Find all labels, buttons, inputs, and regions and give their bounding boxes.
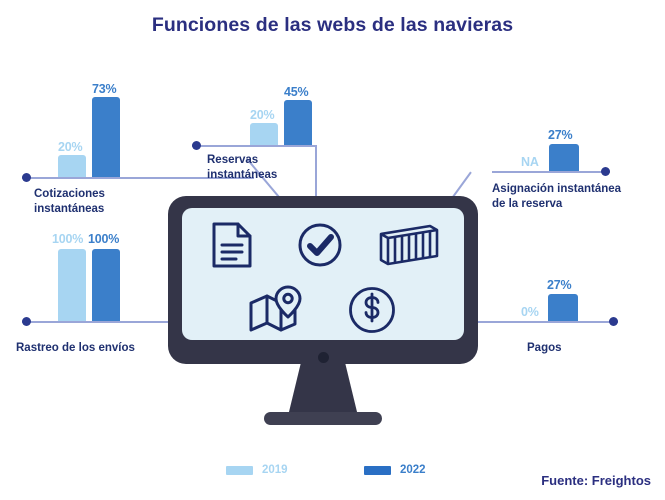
label-asignacion: Asignación instantánea de la reserva [492, 182, 621, 212]
axis-asignacion [492, 171, 610, 173]
value-cotizaciones-2022: 73% [92, 82, 116, 96]
legend-swatch-2019 [226, 466, 253, 475]
axis-pagos [480, 321, 618, 323]
legend-item-2019: 2019 [226, 464, 288, 476]
axis-dot-asignacion [601, 167, 610, 176]
legend-item-2022: 2022 [364, 464, 426, 476]
label-pagos: Pagos [527, 341, 562, 356]
value-reservas-2019: 20% [250, 108, 274, 122]
page-title: Funciones de las webs de las navieras [0, 14, 665, 37]
infographic-root: Funciones de las webs de las navieras 20… [0, 0, 665, 500]
value-rastreo-2019: 100% [52, 232, 83, 246]
dollar-circle-icon [347, 285, 397, 335]
map-pin-icon [248, 284, 306, 336]
value-rastreo-2022: 100% [88, 232, 119, 246]
bar-asignacion-2022 [549, 144, 579, 171]
axis-dot-rastreo [22, 317, 31, 326]
bar-cotizaciones-2022 [92, 97, 120, 177]
legend-swatch-2022 [364, 466, 391, 475]
label-cotizaciones: Cotizaciones instantáneas [34, 187, 105, 217]
value-pagos-2019: 0% [521, 305, 539, 319]
label-reservas: Reservas instantáneas [207, 153, 277, 183]
check-circle-icon [296, 221, 344, 269]
monitor-stand-base [264, 412, 382, 425]
axis-reservas [192, 145, 316, 147]
legend-label-2019: 2019 [262, 464, 288, 476]
label-rastreo: Rastreo de los envíos [16, 341, 135, 356]
bar-pagos-2022 [548, 294, 578, 321]
document-icon [211, 221, 253, 269]
axis-dot-pagos [609, 317, 618, 326]
axis-dot-reservas [192, 141, 201, 150]
axis-dot-cotizaciones [22, 173, 31, 182]
value-reservas-2022: 45% [284, 85, 308, 99]
value-asignacion-2022: 27% [548, 128, 572, 142]
source-note: Fuente: Freightos [541, 473, 651, 488]
monitor-stand-neck [288, 364, 358, 416]
bar-rastreo-2019 [58, 249, 86, 321]
value-asignacion-2019: NA [521, 155, 539, 169]
bar-cotizaciones-2019 [58, 155, 86, 177]
value-pagos-2022: 27% [547, 278, 571, 292]
monitor-power-dot [318, 352, 329, 363]
value-cotizaciones-2019: 20% [58, 140, 82, 154]
legend-label-2022: 2022 [400, 464, 426, 476]
shipping-container-icon [378, 224, 440, 266]
bar-reservas-2022 [284, 100, 312, 145]
bar-rastreo-2022 [92, 249, 120, 321]
bar-reservas-2019 [250, 123, 278, 145]
